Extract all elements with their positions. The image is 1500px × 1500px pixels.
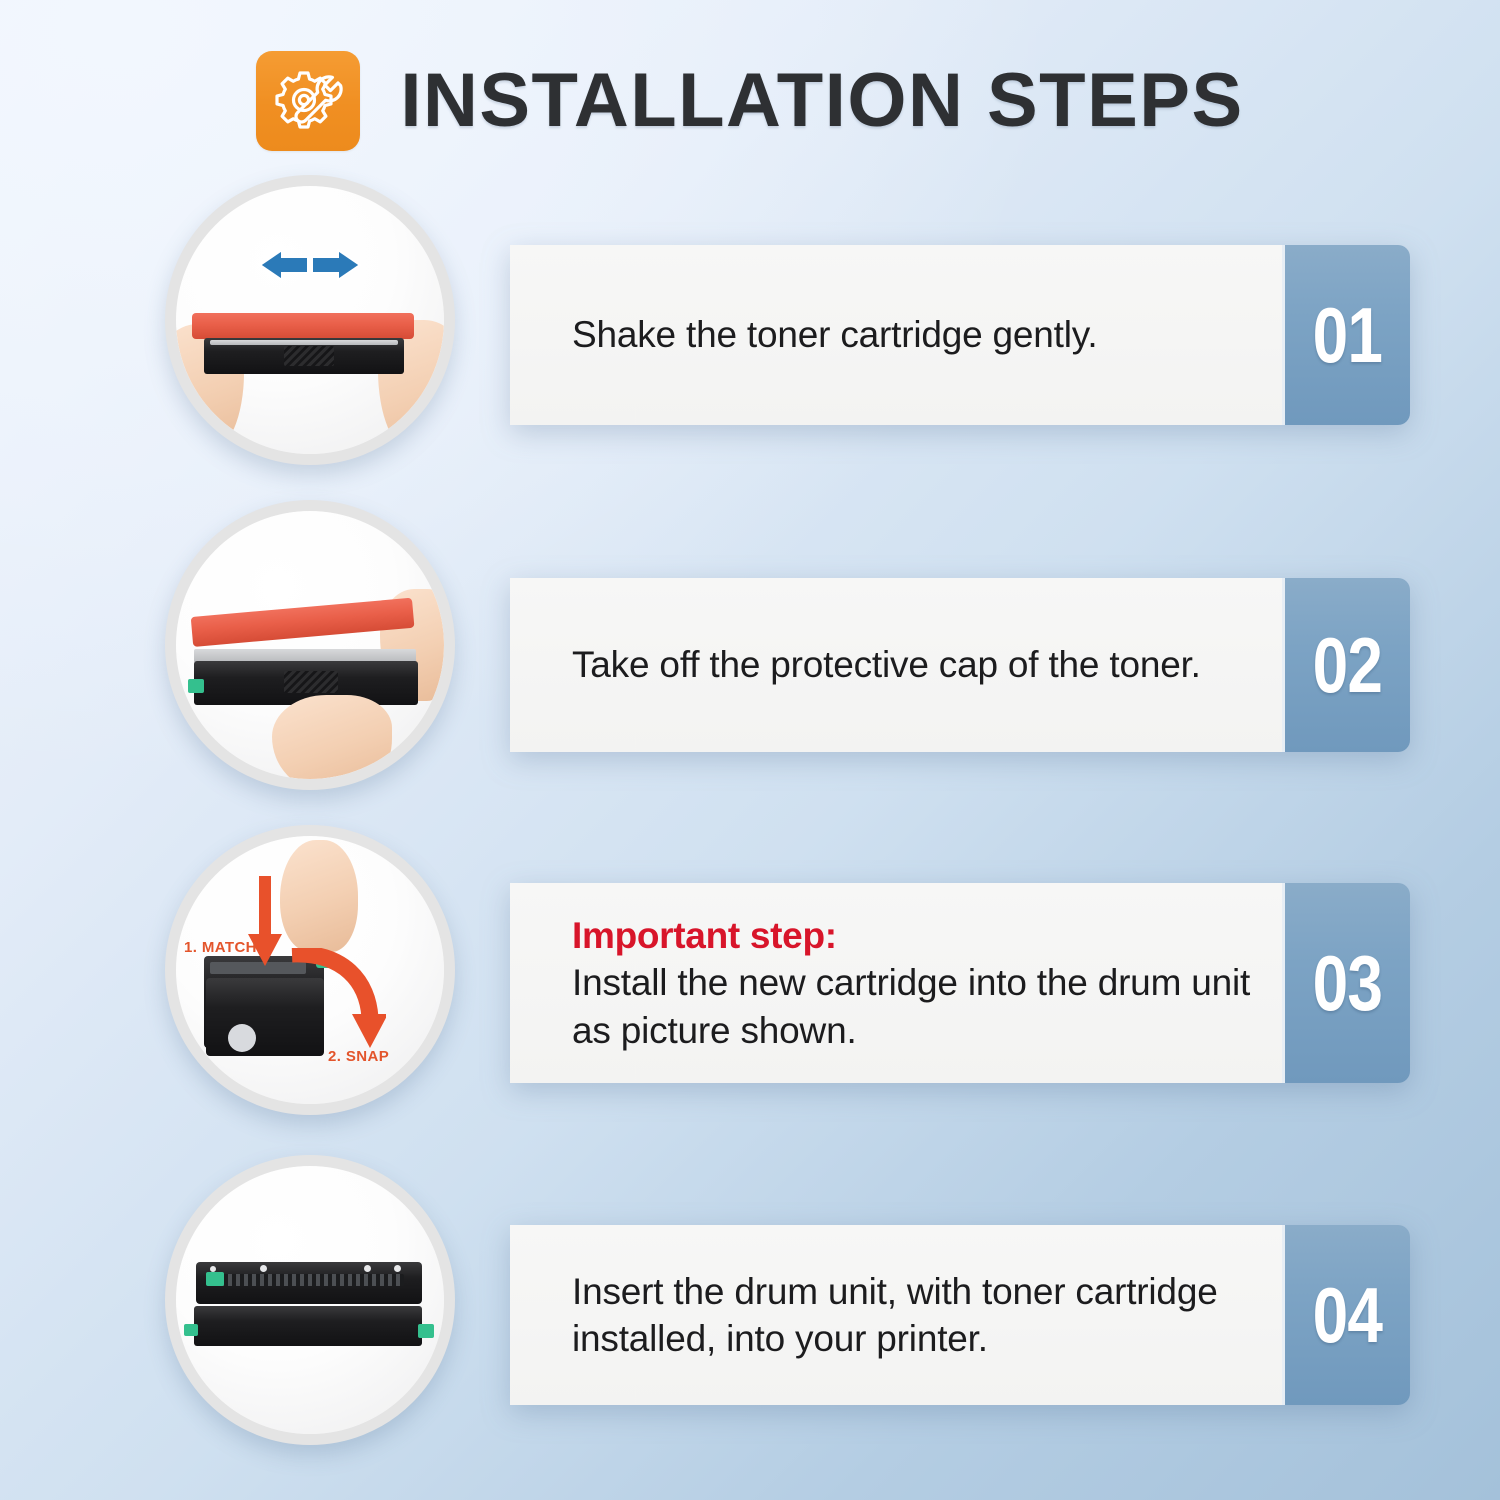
- step-card-4: Insert the drum unit, with toner cartrid…: [510, 1225, 1410, 1405]
- annotation-snap: 2. SNAP: [328, 1048, 389, 1065]
- infographic-page: INSTALLATION STEPS: [0, 0, 1500, 1500]
- step-image-3: 1. MATCH 2. SNAP: [165, 825, 455, 1115]
- step-number-4: 04: [1313, 1276, 1383, 1354]
- step-text-4: Insert the drum unit, with toner cartrid…: [572, 1268, 1252, 1363]
- cartridge-into-drum-photo: 1. MATCH 2. SNAP: [165, 825, 455, 1115]
- page-title: INSTALLATION STEPS: [400, 63, 1243, 139]
- step-card-body-3: Important step: Install the new cartridg…: [510, 883, 1285, 1083]
- step-image-4: [165, 1155, 455, 1445]
- step-text-3-body: Install the new cartridge into the drum …: [572, 962, 1250, 1050]
- step-row-3: 1. MATCH 2. SNAP Important step: Install…: [0, 825, 1500, 1125]
- step-row-2: Take off the protective cap of the toner…: [0, 500, 1500, 800]
- important-step-label: Important step:: [572, 912, 1252, 959]
- step-text-3: Important step: Install the new cartridg…: [572, 912, 1252, 1054]
- step-number-tab-4: 04: [1285, 1225, 1410, 1405]
- step-card-body-4: Insert the drum unit, with toner cartrid…: [510, 1225, 1285, 1405]
- step-number-3: 03: [1313, 944, 1383, 1022]
- step-row-1: Shake the toner cartridge gently. 01: [0, 175, 1500, 475]
- step-card-body-2: Take off the protective cap of the toner…: [510, 578, 1285, 752]
- step-text-2: Take off the protective cap of the toner…: [572, 641, 1201, 688]
- snap-arrow-icon: [286, 948, 386, 1058]
- shake-arrows-icon: [230, 248, 390, 282]
- step-text-1: Shake the toner cartridge gently.: [572, 311, 1097, 358]
- step-number-2: 02: [1313, 626, 1383, 704]
- page-header: INSTALLATION STEPS: [0, 46, 1500, 156]
- step-card-body-1: Shake the toner cartridge gently.: [510, 245, 1285, 425]
- step-number-tab-2: 02: [1285, 578, 1410, 752]
- step-card-3: Important step: Install the new cartridg…: [510, 883, 1410, 1083]
- step-number-tab-3: 03: [1285, 883, 1410, 1083]
- step-row-4: Insert the drum unit, with toner cartrid…: [0, 1155, 1500, 1455]
- step-card-2: Take off the protective cap of the toner…: [510, 578, 1410, 752]
- step-card-1: Shake the toner cartridge gently. 01: [510, 245, 1410, 425]
- step-number-1: 01: [1313, 296, 1383, 374]
- toner-remove-cap-photo: [165, 500, 455, 790]
- annotation-match: 1. MATCH: [184, 939, 257, 956]
- step-image-1: [165, 175, 455, 465]
- gear-wrench-icon: [256, 51, 360, 151]
- step-image-2: [165, 500, 455, 790]
- step-number-tab-1: 01: [1285, 245, 1410, 425]
- drum-unit-photo: [165, 1155, 455, 1445]
- toner-shake-photo: [165, 175, 455, 465]
